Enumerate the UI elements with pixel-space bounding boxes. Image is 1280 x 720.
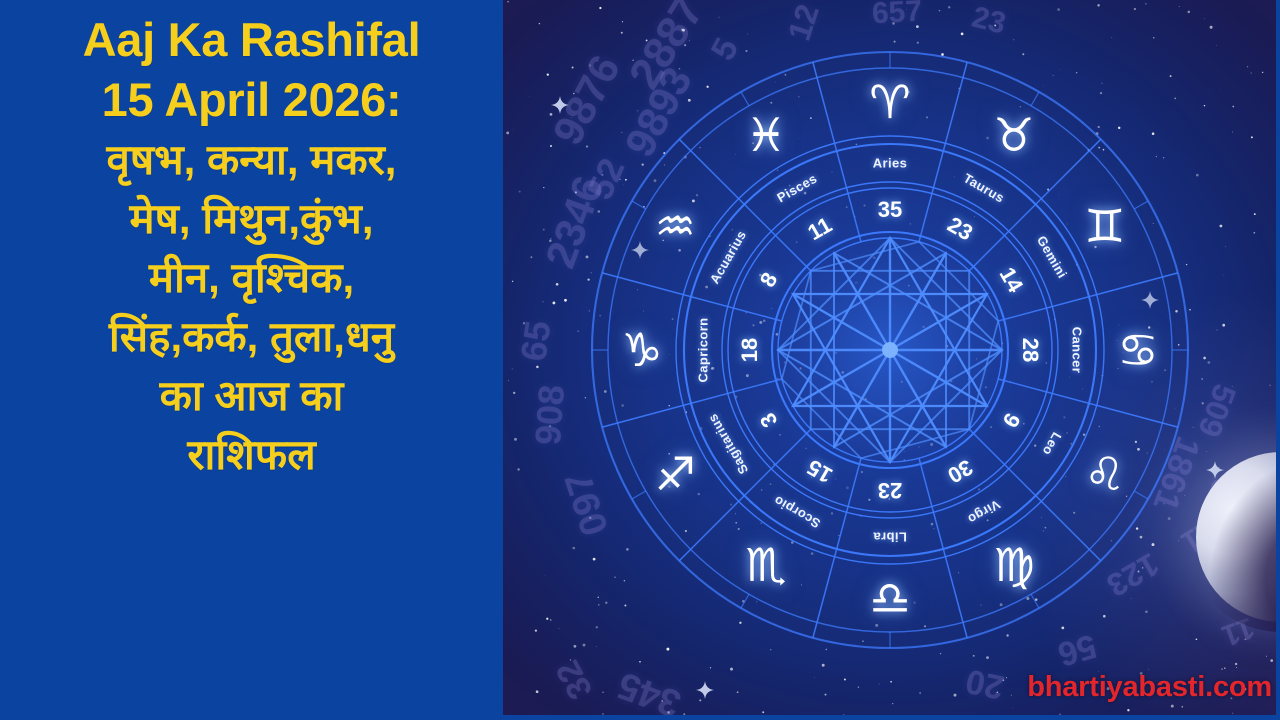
zodiac-number-aries: 35 (878, 197, 902, 223)
zodiac-symbol-scorpio: ♏ (745, 542, 786, 588)
zodiac-number-capricorn: 18 (737, 338, 763, 362)
headline-line-7: का आज का (83, 366, 421, 425)
zodiac-symbol-cancer: ♋ (1117, 327, 1158, 373)
zodiac-name-cancer: Cancer (1070, 327, 1085, 373)
headline-panel: Aaj Ka Rashifal15 April 2026:वृषभ, कन्या… (0, 0, 503, 720)
zodiac-name-libra: Libra (873, 530, 907, 545)
headline-line-3: वृषभ, कन्या, मकर, (83, 130, 421, 189)
zodiac-symbol-aries: ♈ (869, 79, 910, 125)
zodiac-symbol-capricorn: ♑ (621, 327, 662, 373)
rashifal-poster: 2887512657239876989352234665908097323452… (0, 0, 1280, 720)
headline-line-5: मीन, वृश्चिक, (83, 248, 421, 307)
zodiac-wheel: ♈Aries35♉Taurus23♊Gemini14♋Cancer28♌Leo9… (590, 50, 1190, 650)
zodiac-symbol-sagitarius: ♐ (655, 451, 696, 497)
zodiac-symbol-virgo: ♍ (993, 542, 1034, 588)
zodiac-symbol-gemini: ♊ (1084, 203, 1125, 249)
zodiac-number-cancer: 28 (1017, 338, 1043, 362)
zodiac-name-aries: Aries (873, 156, 908, 171)
zodiac-number-libra: 23 (878, 477, 902, 503)
headline-line-1: Aaj Ka Rashifal (83, 10, 421, 70)
zodiac-symbol-acuarius: ♒ (655, 203, 696, 249)
zodiac-symbol-taurus: ♉ (993, 112, 1034, 158)
headline-line-4: मेष, मिथुन,कुंभ, (83, 189, 421, 248)
bottom-border (0, 715, 1280, 720)
headline-line-2: 15 April 2026: (83, 70, 421, 130)
right-border (1276, 0, 1280, 720)
zodiac-symbol-leo: ♌ (1084, 451, 1125, 497)
zodiac-name-capricorn: Capricorn (696, 317, 711, 382)
zodiac-symbol-libra: ♎ (869, 575, 910, 621)
headline-line-6: सिंह,कर्क, तुला,धनु (83, 307, 421, 366)
watermark: bhartiyabasti.com (1027, 671, 1272, 704)
moon-icon (1196, 452, 1280, 622)
headline-line-8: राशिफल (83, 425, 421, 484)
zodiac-symbol-pisces: ♓ (745, 112, 786, 158)
page-title: Aaj Ka Rashifal15 April 2026:वृषभ, कन्या… (83, 10, 421, 484)
